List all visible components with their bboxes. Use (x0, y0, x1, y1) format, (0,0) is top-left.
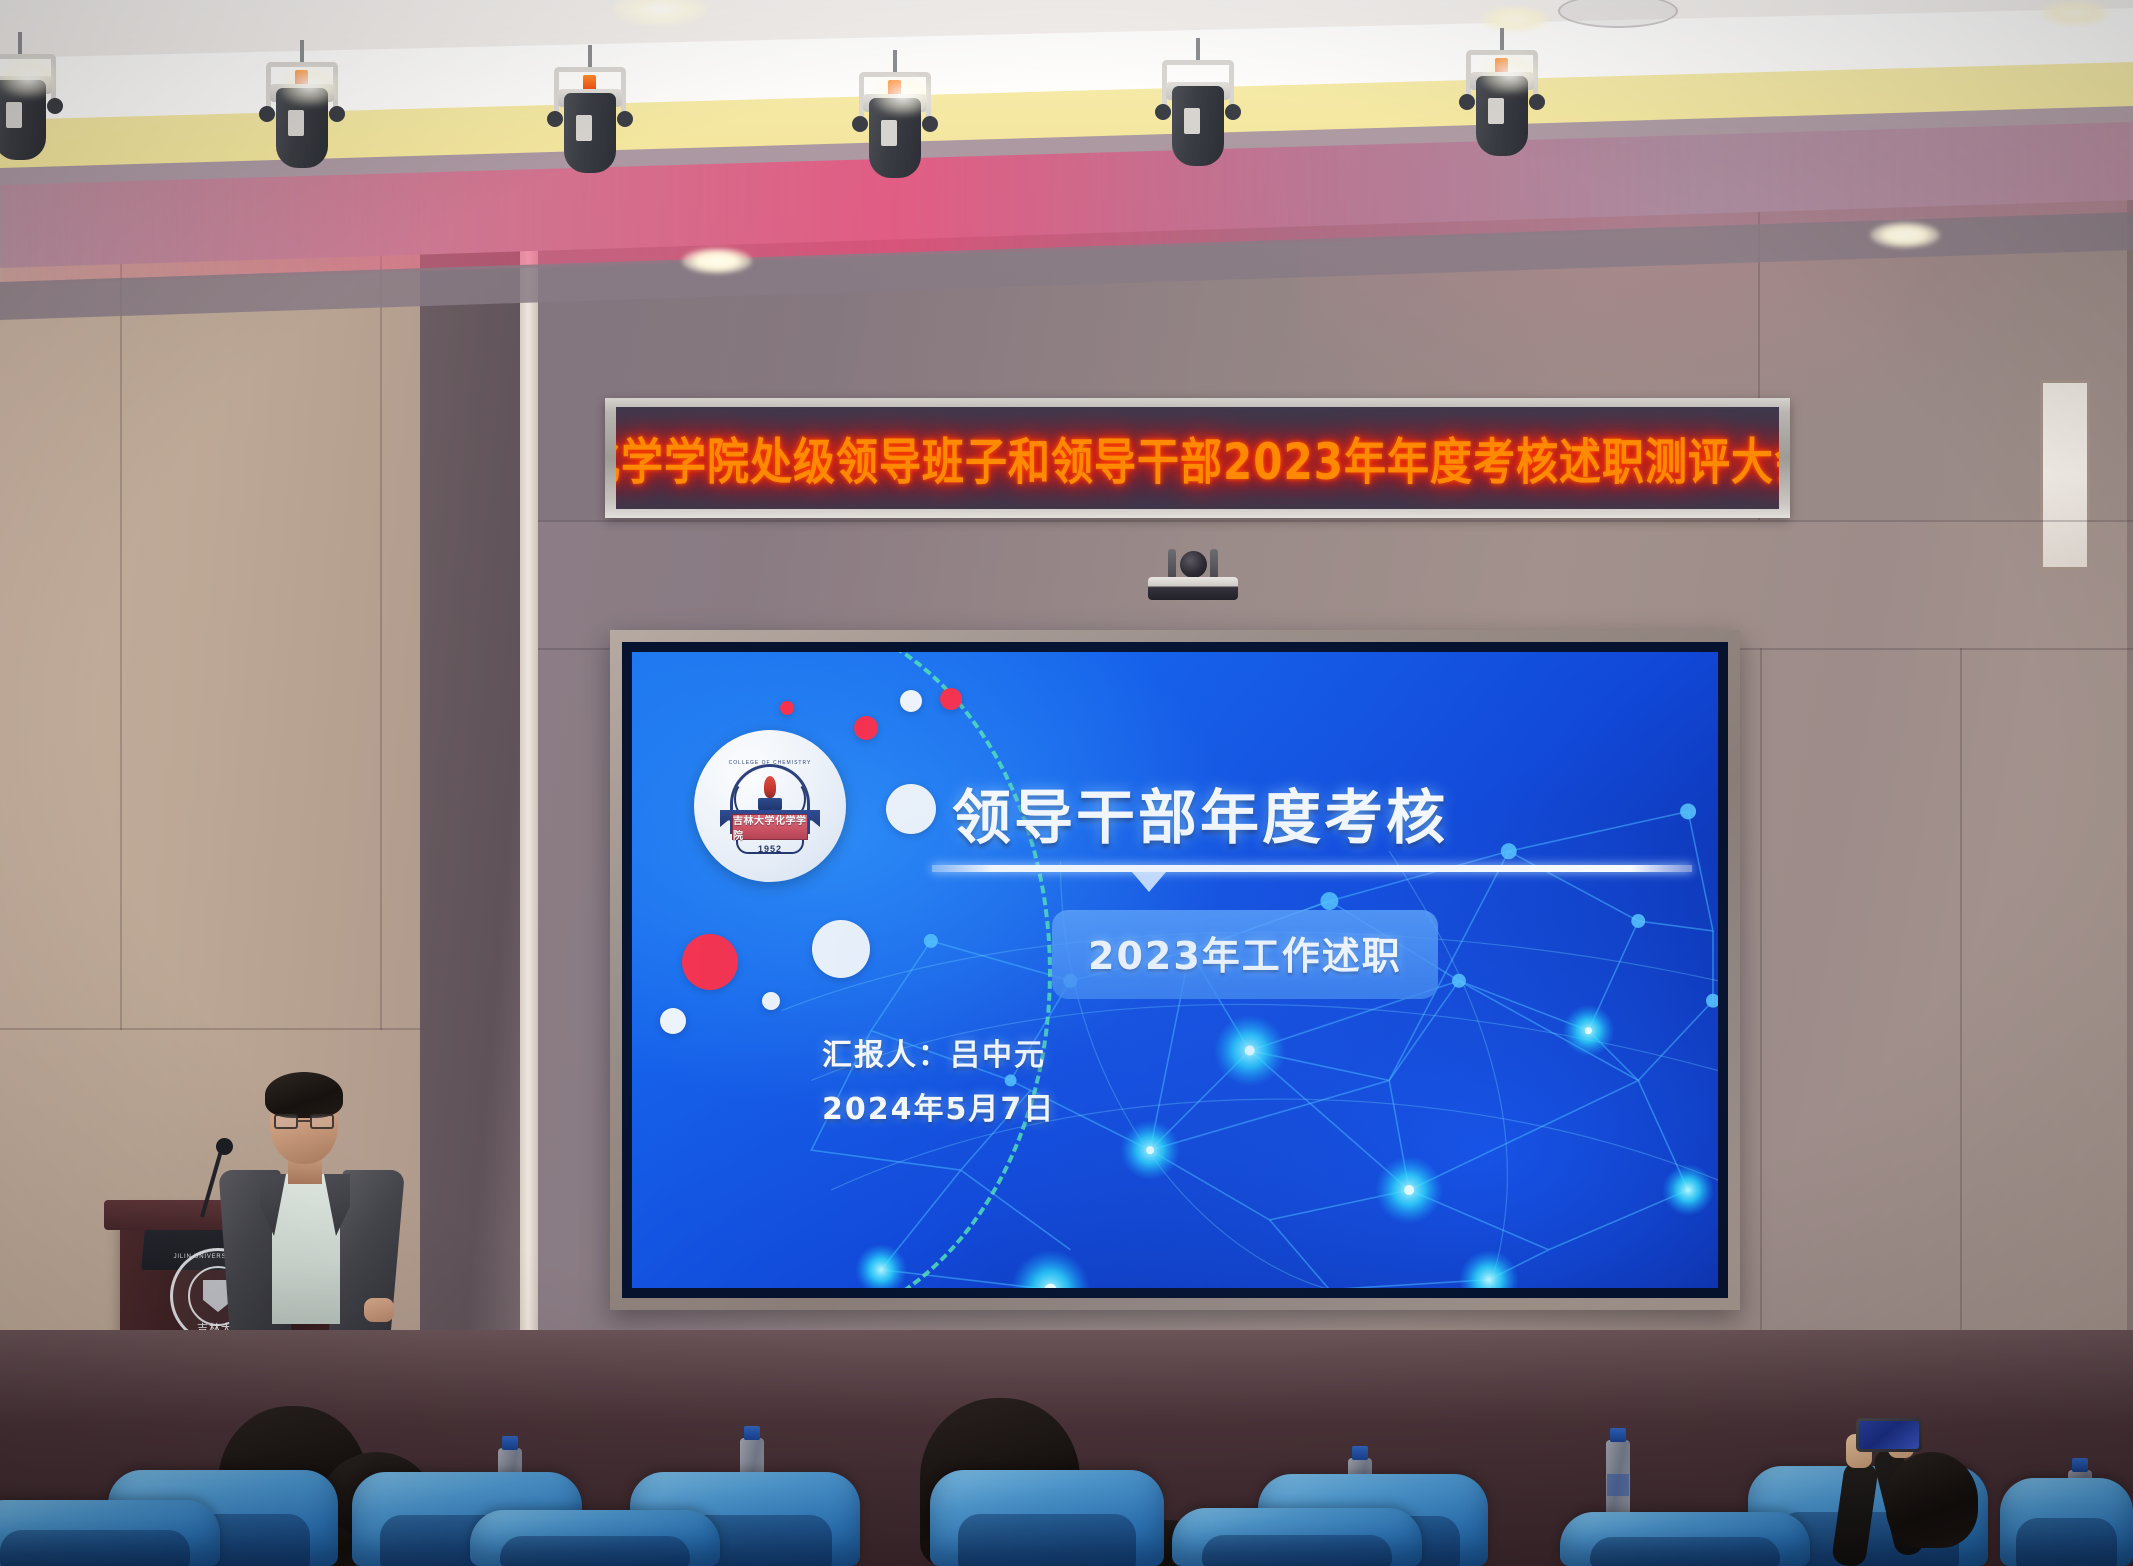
led-banner: 化学学院处级领导班子和领导干部2023年年度考核述职测评大会 (605, 398, 1790, 518)
ptz-camera-icon (1148, 545, 1238, 600)
decorative-dot (780, 701, 794, 715)
slide-date: 2024年5月7日 (822, 1084, 1055, 1128)
decorative-dot (886, 784, 936, 834)
wall-pillar-highlight (520, 150, 538, 1340)
stage-spotlight-icon (550, 45, 630, 175)
decorative-dot (660, 1008, 686, 1034)
stage-spotlight-icon (1462, 28, 1542, 158)
recessed-downlight-icon (1870, 222, 1940, 248)
college-logo: COLLEGE OF CHEMISTRY 吉林大学化学学院 1952 (694, 730, 846, 882)
torch-icon (764, 776, 776, 798)
stage-spotlight-icon (0, 32, 60, 162)
projection-screen: COLLEGE OF CHEMISTRY 吉林大学化学学院 1952 领导干部年… (610, 630, 1740, 1310)
decorative-dot (762, 992, 780, 1010)
slide-title-notch (1132, 872, 1166, 892)
college-crest: COLLEGE OF CHEMISTRY 吉林大学化学学院 1952 (718, 754, 822, 858)
recessed-downlight-icon (682, 248, 752, 274)
college-logo-arc-text: COLLEGE OF CHEMISTRY (718, 760, 822, 766)
stage-spotlight-icon (1158, 38, 1238, 168)
college-logo-shield: 吉林大学化学学院 (732, 814, 808, 840)
wall-seam (0, 1028, 420, 1030)
wall-seam (1760, 648, 1762, 1348)
eyeglasses-icon (274, 1114, 334, 1129)
audience-seat (930, 1470, 1164, 1566)
decorative-dot (900, 690, 922, 712)
audience-seat (2000, 1478, 2133, 1566)
stage-spotlight-icon (855, 50, 935, 180)
presentation-slide: COLLEGE OF CHEMISTRY 吉林大学化学学院 1952 领导干部年… (632, 652, 1718, 1288)
wall-seam (1960, 648, 1962, 1348)
led-banner-text: 化学学院处级领导班子和领导干部2023年年度考核述职测评大会 (616, 422, 1779, 494)
speaker-presenter (228, 1070, 388, 1330)
water-bottle-icon (1606, 1440, 1630, 1518)
speaker-hand (364, 1298, 394, 1322)
decorative-dot (682, 934, 738, 990)
slide-title-divider (932, 865, 1692, 872)
slide-subtitle-badge: 2023年工作述职 (1052, 910, 1438, 999)
audience-seat (0, 1500, 220, 1566)
wall-left-shadow-column (420, 150, 530, 1340)
recessed-downlight-icon (2040, 0, 2110, 26)
projection-screen-inner: COLLEGE OF CHEMISTRY 吉林大学化学学院 1952 领导干部年… (622, 642, 1728, 1298)
college-logo-year: 1952 (718, 844, 822, 854)
slide-title: 领导干部年度考核 (952, 770, 1652, 855)
side-window (2040, 380, 2090, 570)
decorative-dot (812, 920, 870, 978)
audience-seat (1560, 1512, 1810, 1566)
wall-seam (538, 520, 2133, 522)
stage-spotlight-icon (262, 40, 342, 170)
smartphone-icon (1856, 1418, 1922, 1452)
decorative-dot (854, 716, 878, 740)
audience-seat (470, 1510, 720, 1566)
audience-seat (1172, 1508, 1422, 1566)
slide-presenter: 汇报人：吕中元 (822, 1030, 1046, 1074)
auditorium-scene: 化学学院处级领导班子和领导干部2023年年度考核述职测评大会 (0, 0, 2133, 1566)
led-banner-screen: 化学学院处级领导班子和领导干部2023年年度考核述职测评大会 (616, 407, 1779, 509)
audience-person-with-phone (1828, 1400, 2008, 1566)
college-logo-name: 吉林大学化学学院 (733, 812, 807, 842)
decorative-dot (940, 688, 962, 710)
